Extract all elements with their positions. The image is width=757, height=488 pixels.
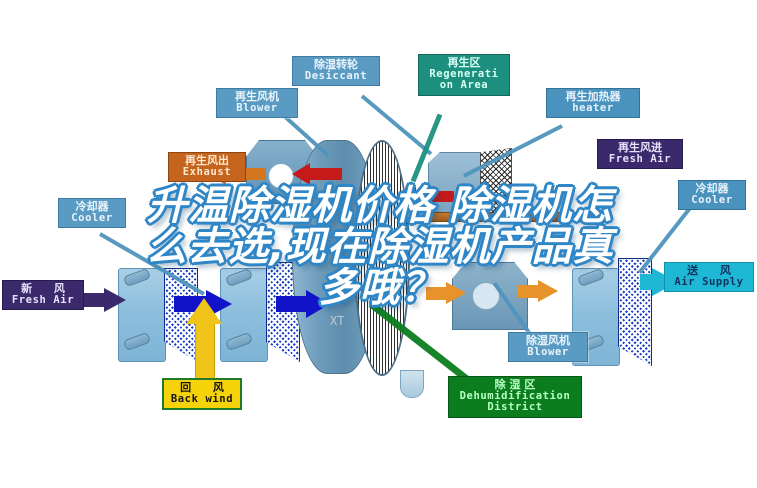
label-cooler-left[interactable]: 冷却器 Cooler bbox=[58, 198, 126, 228]
regen-blower-inlet-circle bbox=[268, 163, 294, 189]
label-regen-heater[interactable]: 再生加热器 heater bbox=[546, 88, 640, 118]
label-dehumidification-district-en2: District bbox=[454, 402, 576, 413]
label-regen-exhaust-en: Exhaust bbox=[174, 167, 240, 178]
regen-heater-block bbox=[428, 152, 482, 214]
label-fresh-air-inlet-en: Fresh Air bbox=[8, 295, 78, 306]
label-regeneration-area-en2: on Area bbox=[424, 80, 504, 91]
label-regen-blower[interactable]: 再生风机 Blower bbox=[216, 88, 298, 118]
label-regen-heater-en: heater bbox=[552, 103, 634, 114]
label-fresh-air-inlet[interactable]: 新 风 Fresh Air bbox=[2, 280, 84, 310]
label-air-supply[interactable]: 送 风 Air Supply bbox=[664, 262, 754, 292]
label-regen-blower-en: Blower bbox=[222, 103, 292, 114]
label-cooler-left-en: Cooler bbox=[64, 213, 120, 224]
label-regen-fresh-air-en: Fresh Air bbox=[603, 154, 677, 165]
label-dehumidify-blower[interactable]: 除湿风机 Blower bbox=[508, 332, 588, 362]
rotor-honeycomb-face bbox=[354, 140, 410, 376]
dehumidifier-diagram: XT bbox=[0, 0, 757, 488]
label-cooler-right-en: Cooler bbox=[684, 195, 740, 206]
label-cooler-right[interactable]: 冷却器 Cooler bbox=[678, 180, 746, 210]
label-back-wind-en: Back wind bbox=[169, 394, 235, 405]
drain-tube bbox=[400, 370, 424, 398]
regen-heater-base-plate bbox=[430, 212, 612, 222]
label-air-supply-en: Air Supply bbox=[670, 277, 748, 288]
leader-heater bbox=[463, 124, 563, 178]
label-desiccant-wheel-en: Desiccant bbox=[298, 71, 374, 82]
label-dehumidification-district[interactable]: 除 湿 区 Dehumidification District bbox=[448, 376, 582, 418]
label-desiccant-wheel[interactable]: 除湿转轮 Desiccant bbox=[292, 56, 380, 86]
label-dehumidify-blower-en: Blower bbox=[514, 347, 582, 358]
label-regen-fresh-air[interactable]: 再生风进 Fresh Air bbox=[597, 139, 683, 169]
label-regeneration-area[interactable]: 再生区 Regenerati on Area bbox=[418, 54, 510, 96]
label-back-wind[interactable]: 回 风 Back wind bbox=[162, 378, 242, 410]
label-regen-exhaust[interactable]: 再生风出 Exhaust bbox=[168, 152, 246, 182]
watermark-text: XT bbox=[330, 314, 344, 328]
